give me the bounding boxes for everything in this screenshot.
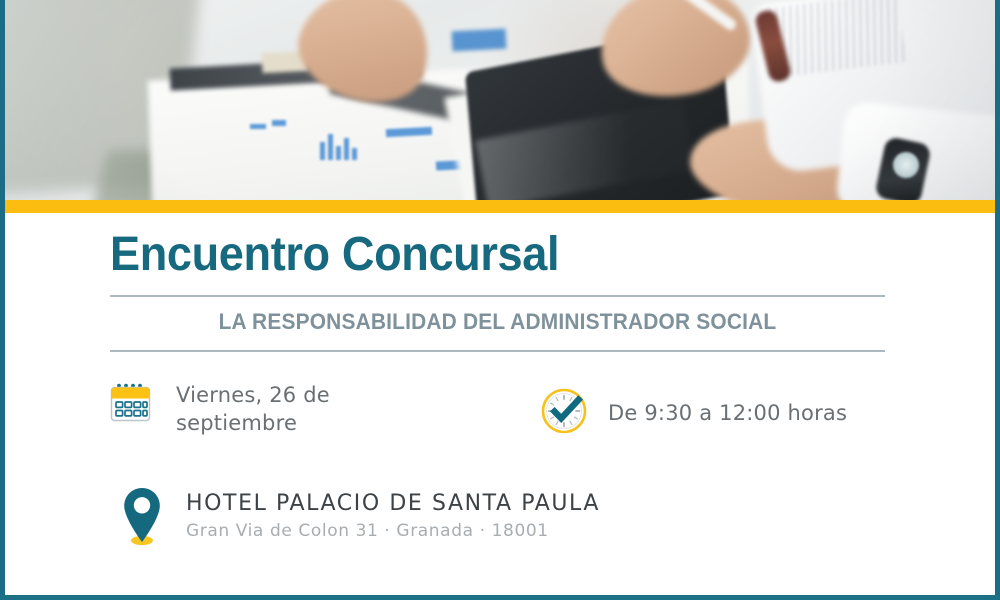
event-date-row: Viernes, 26 de septiembre [108, 381, 426, 438]
venue-address: Gran Via de Colon 31 · Granada · 18001 [186, 521, 600, 541]
content-area: Encuentro Concursal LA RESPONSABILIDAD D… [0, 213, 1000, 595]
frame-border-left [0, 0, 5, 600]
divider-top [110, 295, 885, 297]
map-pin-icon [120, 485, 164, 552]
calendar-icon [108, 381, 154, 432]
accent-band [0, 200, 1000, 213]
divider-bottom [110, 350, 885, 352]
hero-photo [0, 0, 1000, 200]
event-time-text: De 9:30 a 12:00 horas [608, 399, 847, 427]
frame-border-right [995, 0, 1000, 600]
frame-border-bottom [0, 595, 1000, 600]
event-date-text: Viernes, 26 de septiembre [176, 381, 426, 438]
venue-block: HOTEL PALACIO DE SANTA PAULA Gran Via de… [186, 485, 600, 541]
clock-check-icon [540, 387, 588, 440]
event-poster: Encuentro Concursal LA RESPONSABILIDAD D… [0, 0, 1000, 600]
venue-name: HOTEL PALACIO DE SANTA PAULA [186, 491, 600, 516]
page-title: Encuentro Concursal [110, 227, 559, 282]
event-place-row: HOTEL PALACIO DE SANTA PAULA Gran Via de… [120, 485, 600, 552]
page-subtitle: LA RESPONSABILIDAD DEL ADMINISTRADOR SOC… [129, 309, 865, 335]
event-time-row: De 9:30 a 12:00 horas [540, 387, 847, 440]
photo-vignette [0, 0, 1000, 200]
